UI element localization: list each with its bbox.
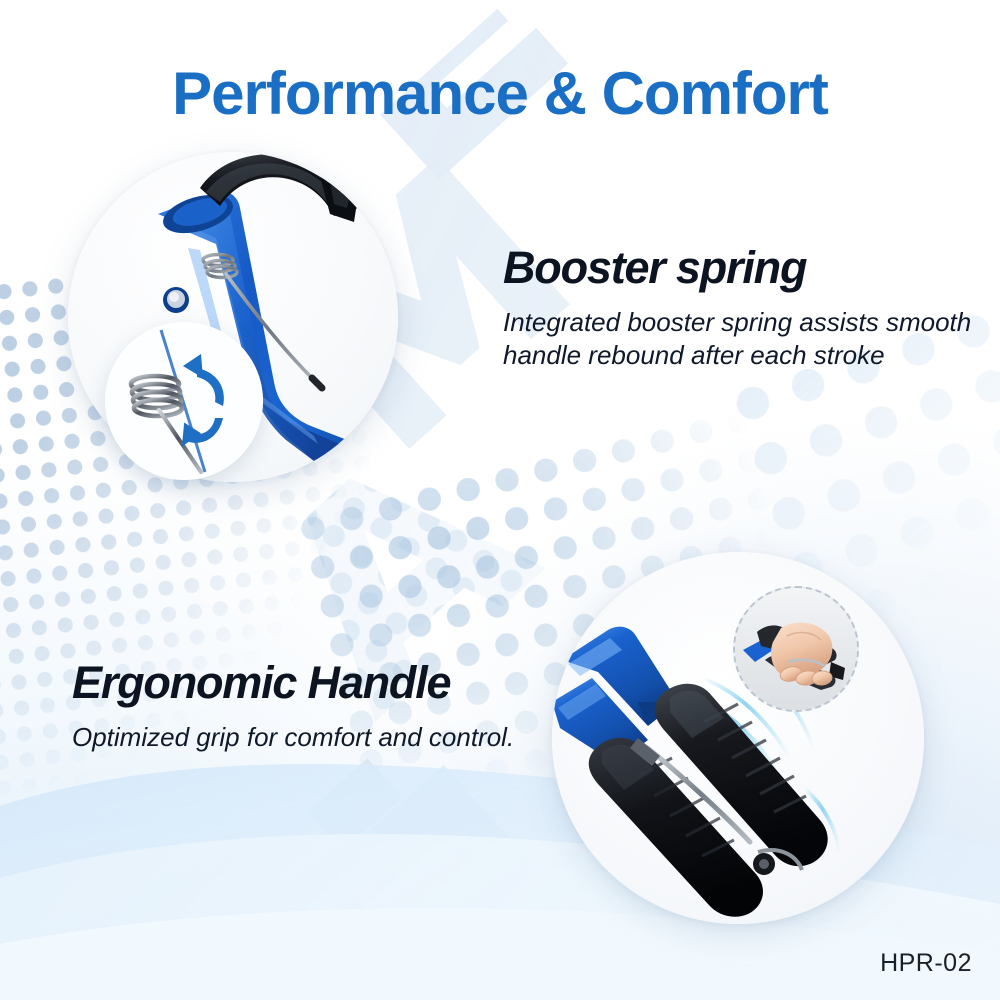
feature-booster-spring: Booster spring Integrated booster spring… [503, 245, 973, 371]
feature-heading: Ergonomic Handle [72, 660, 524, 707]
product-code: HPR-02 [880, 949, 972, 978]
inset-hand-grip [733, 586, 859, 712]
feature-description: Optimized grip for comfort and control. [72, 721, 524, 754]
page-title: Performance & Comfort [0, 62, 1000, 125]
feature-heading: Booster spring [503, 245, 973, 292]
infographic-page: Performance & Comfort [0, 0, 1000, 1000]
feature-ergonomic-handle: Ergonomic Handle Optimized grip for comf… [72, 660, 524, 754]
inset-spring-detail [105, 322, 263, 480]
feature-description: Integrated booster spring assists smooth… [503, 306, 973, 372]
